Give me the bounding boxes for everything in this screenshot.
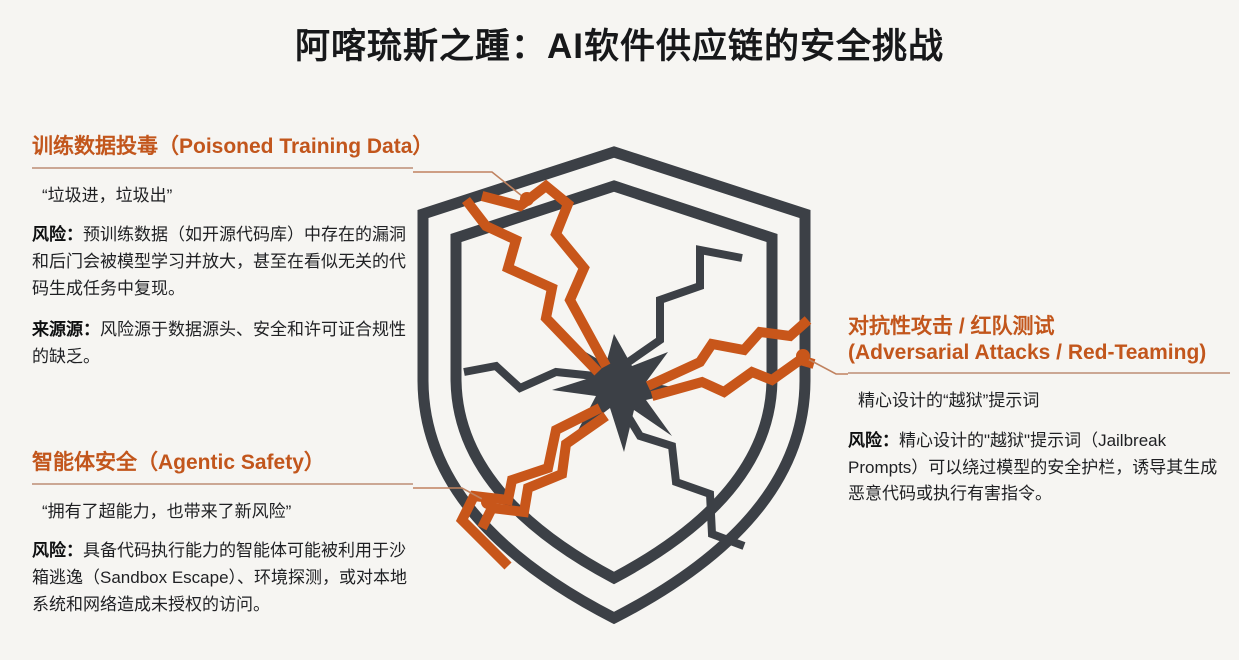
callout-risk-poisoned-training-data: 风险：预训练数据（如开源代码库）中存在的漏洞和后门会被模型学习并放大，甚至在看似… [32, 222, 412, 303]
callout-quote-adversarial-attacks: 精心设计的“越狱”提示词 [848, 388, 1230, 414]
page-title: 阿喀琉斯之踵：AI软件供应链的安全挑战 [0, 18, 1239, 69]
connector-dot-top-left [520, 192, 534, 206]
callout-heading-adversarial-attacks: 对抗性攻击 / 红队测试 (Adversarial Attacks / Red-… [848, 314, 1230, 365]
callout-poisoned-training-data: 训练数据投毒（Poisoned Training Data） “垃圾进，垃圾出”… [32, 134, 412, 370]
risk-label: 风险： [848, 431, 899, 450]
infographic-canvas: 阿喀琉斯之踵：AI软件供应链的安全挑战 [0, 0, 1239, 660]
source-label: 来源源： [32, 320, 100, 339]
callout-heading-line-2: (Adversarial Attacks / Red-Teaming) [848, 340, 1230, 366]
connector-dot-right [796, 349, 810, 363]
risk-label: 风险： [32, 541, 83, 560]
callout-risk-adversarial-attacks: 风险：精心设计的"越狱"提示词（Jailbreak Prompts）可以绕过模型… [848, 428, 1230, 509]
risk-label: 风险： [32, 225, 83, 244]
callout-heading-line-1: 对抗性攻击 / 红队测试 [848, 314, 1230, 340]
callout-rule [32, 167, 413, 169]
callout-risk-agentic-safety: 风险：具备代码执行能力的智能体可能被利用于沙箱逃逸（Sandbox Escape… [32, 538, 412, 619]
callout-quote-agentic-safety: “拥有了超能力，也带来了新风险” [32, 499, 412, 525]
risk-text: 预训练数据（如开源代码库）中存在的漏洞和后门会被模型学习并放大，甚至在看似无关的… [32, 225, 406, 298]
callout-heading-poisoned-training-data: 训练数据投毒（Poisoned Training Data） [32, 134, 412, 160]
callout-heading-agentic-safety: 智能体安全（Agentic Safety） [32, 450, 412, 476]
callout-adversarial-attacks: 对抗性攻击 / 红队测试 (Adversarial Attacks / Red-… [848, 314, 1230, 508]
callout-rule [848, 372, 1230, 374]
callout-quote-poisoned-training-data: “垃圾进，垃圾出” [32, 183, 412, 209]
risk-text: 具备代码执行能力的智能体可能被利用于沙箱逃逸（Sandbox Escape）、环… [32, 541, 407, 614]
connector-dot-bottom-left [481, 495, 495, 509]
callout-agentic-safety: 智能体安全（Agentic Safety） “拥有了超能力，也带来了新风险” 风… [32, 450, 412, 619]
callout-rule [32, 483, 413, 485]
risk-text: 精心设计的"越狱"提示词（Jailbreak Prompts）可以绕过模型的安全… [848, 431, 1217, 504]
callout-source-poisoned-training-data: 来源源：风险源于数据源头、安全和许可证合规性的缺乏。 [32, 317, 412, 371]
